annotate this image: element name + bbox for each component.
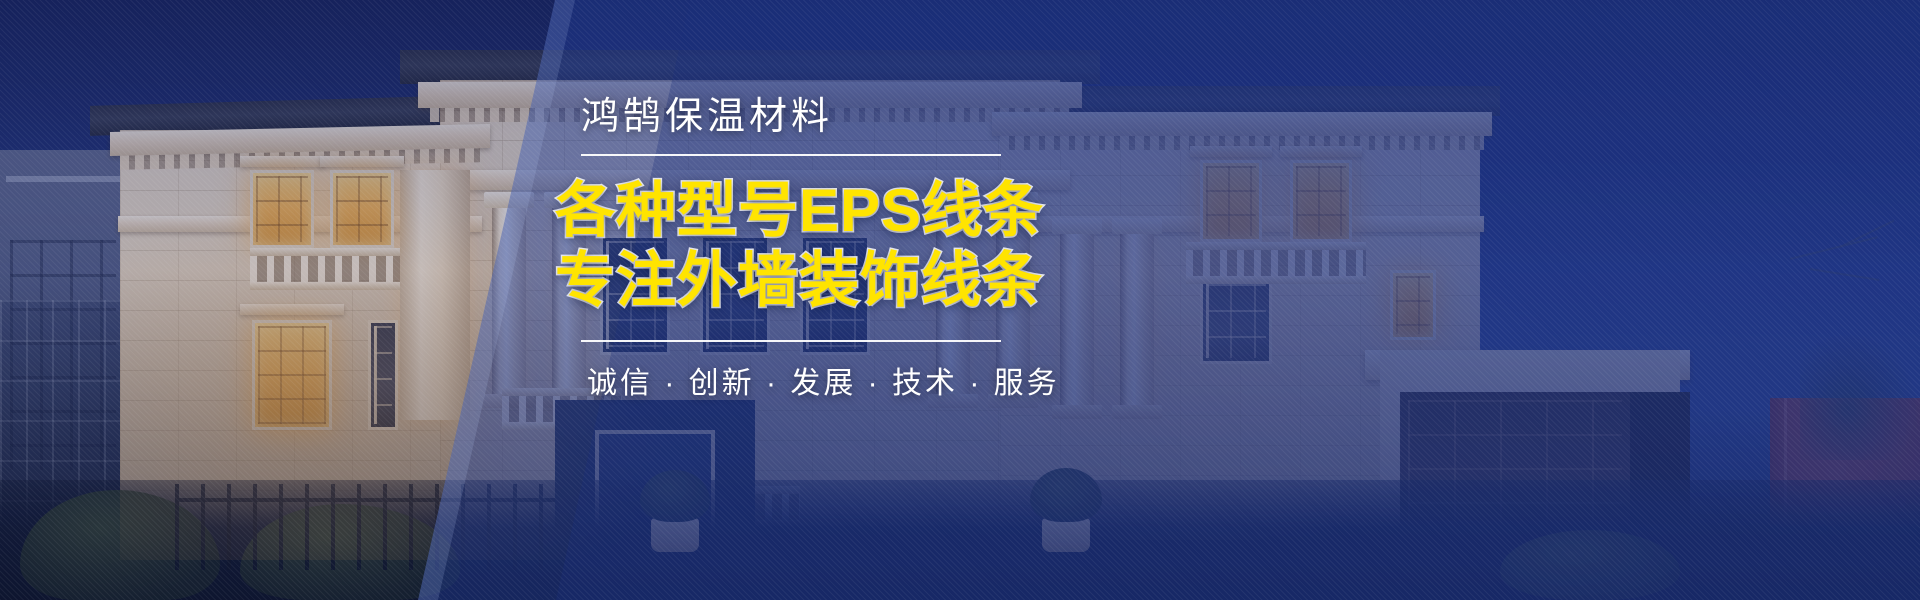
window-lit-3 [252, 320, 332, 430]
cornice-right-top [992, 112, 1492, 136]
planter-2 [1042, 518, 1090, 552]
banner-copy: 鸿鹄保温材料 各种型号EPS线条 专注外墙装饰线条 诚信 · 创新 · 发展 ·… [555, 96, 1025, 402]
window-lit-2 [330, 170, 394, 248]
window-11 [1200, 278, 1272, 364]
tree-foliage [1800, 330, 1920, 460]
brand-name: 鸿鹄保温材料 [581, 96, 1025, 140]
window-lit-10 [1290, 160, 1352, 242]
window-cap-2 [320, 156, 404, 167]
headline-line-1: 各种型号EPS线条 [555, 178, 1025, 244]
corner-pilaster [400, 170, 470, 420]
window-cap-1 [240, 156, 324, 167]
divider-top [581, 154, 1001, 156]
roof-main [400, 50, 1100, 84]
column-1 [492, 206, 526, 396]
window-lit-12 [1390, 270, 1436, 340]
window-cap-9 [1190, 146, 1272, 157]
headline-line-2: 专注外墙装饰线条 [555, 248, 1025, 314]
column-5 [1060, 232, 1094, 407]
window-cap-10 [1280, 146, 1362, 157]
planter-1 [651, 518, 699, 552]
window-cap-3 [240, 304, 344, 315]
balustrade-3 [1186, 242, 1366, 284]
window-4 [368, 320, 398, 430]
divider-bottom [581, 340, 1001, 342]
window-lit-9 [1200, 160, 1262, 242]
column-6 [1120, 232, 1154, 407]
tagline: 诚信 · 创新 · 发展 · 技术 · 服务 [587, 358, 1025, 402]
iron-fence [175, 484, 555, 570]
window-lit-1 [250, 170, 314, 248]
balustrade-1 [250, 248, 400, 290]
hero-banner: 鸿鹄保温材料 各种型号EPS线条 专注外墙装饰线条 诚信 · 创新 · 发展 ·… [0, 0, 1920, 600]
